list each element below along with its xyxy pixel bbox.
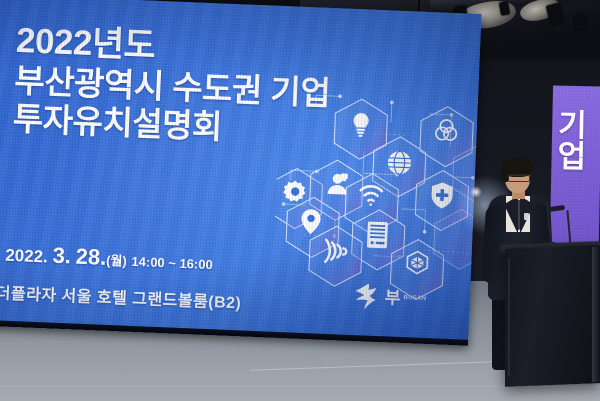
eyeglasses-icon — [507, 174, 529, 181]
conference-stage-photo: 2022년도 부산광역시 수도권 기업 투자유치설명회 2022. 3. 28.… — [0, 0, 600, 401]
date-day: 28. — [75, 244, 107, 270]
microphone-stem — [566, 210, 571, 246]
busan-logo-sub: BUSAN — [403, 295, 426, 302]
podium-highlight — [508, 258, 510, 376]
busan-emblem-icon — [351, 281, 382, 312]
poster-title-block: 2022년도 부산광역시 수도권 기업 투자유치설명회 — [12, 23, 396, 151]
date-month: 3. — [52, 243, 71, 269]
led-screen: 2022년도 부산광역시 수도권 기업 투자유치설명회 2022. 3. 28.… — [0, 0, 482, 346]
podium-edge — [592, 247, 600, 382]
busan-logo: 부 BUSAN — [351, 281, 427, 314]
lectern — [505, 245, 600, 387]
busan-logo-text: 부 — [385, 289, 401, 307]
microphone-head — [548, 205, 566, 212]
side-panel-text: 기업 — [557, 110, 600, 173]
date-time: 14:00 ~ 16:00 — [131, 254, 213, 272]
date-weekday: (월) — [106, 253, 127, 269]
microphone-head — [530, 197, 548, 205]
date-year: 2022. — [5, 246, 48, 267]
presenter-badge — [524, 213, 529, 220]
